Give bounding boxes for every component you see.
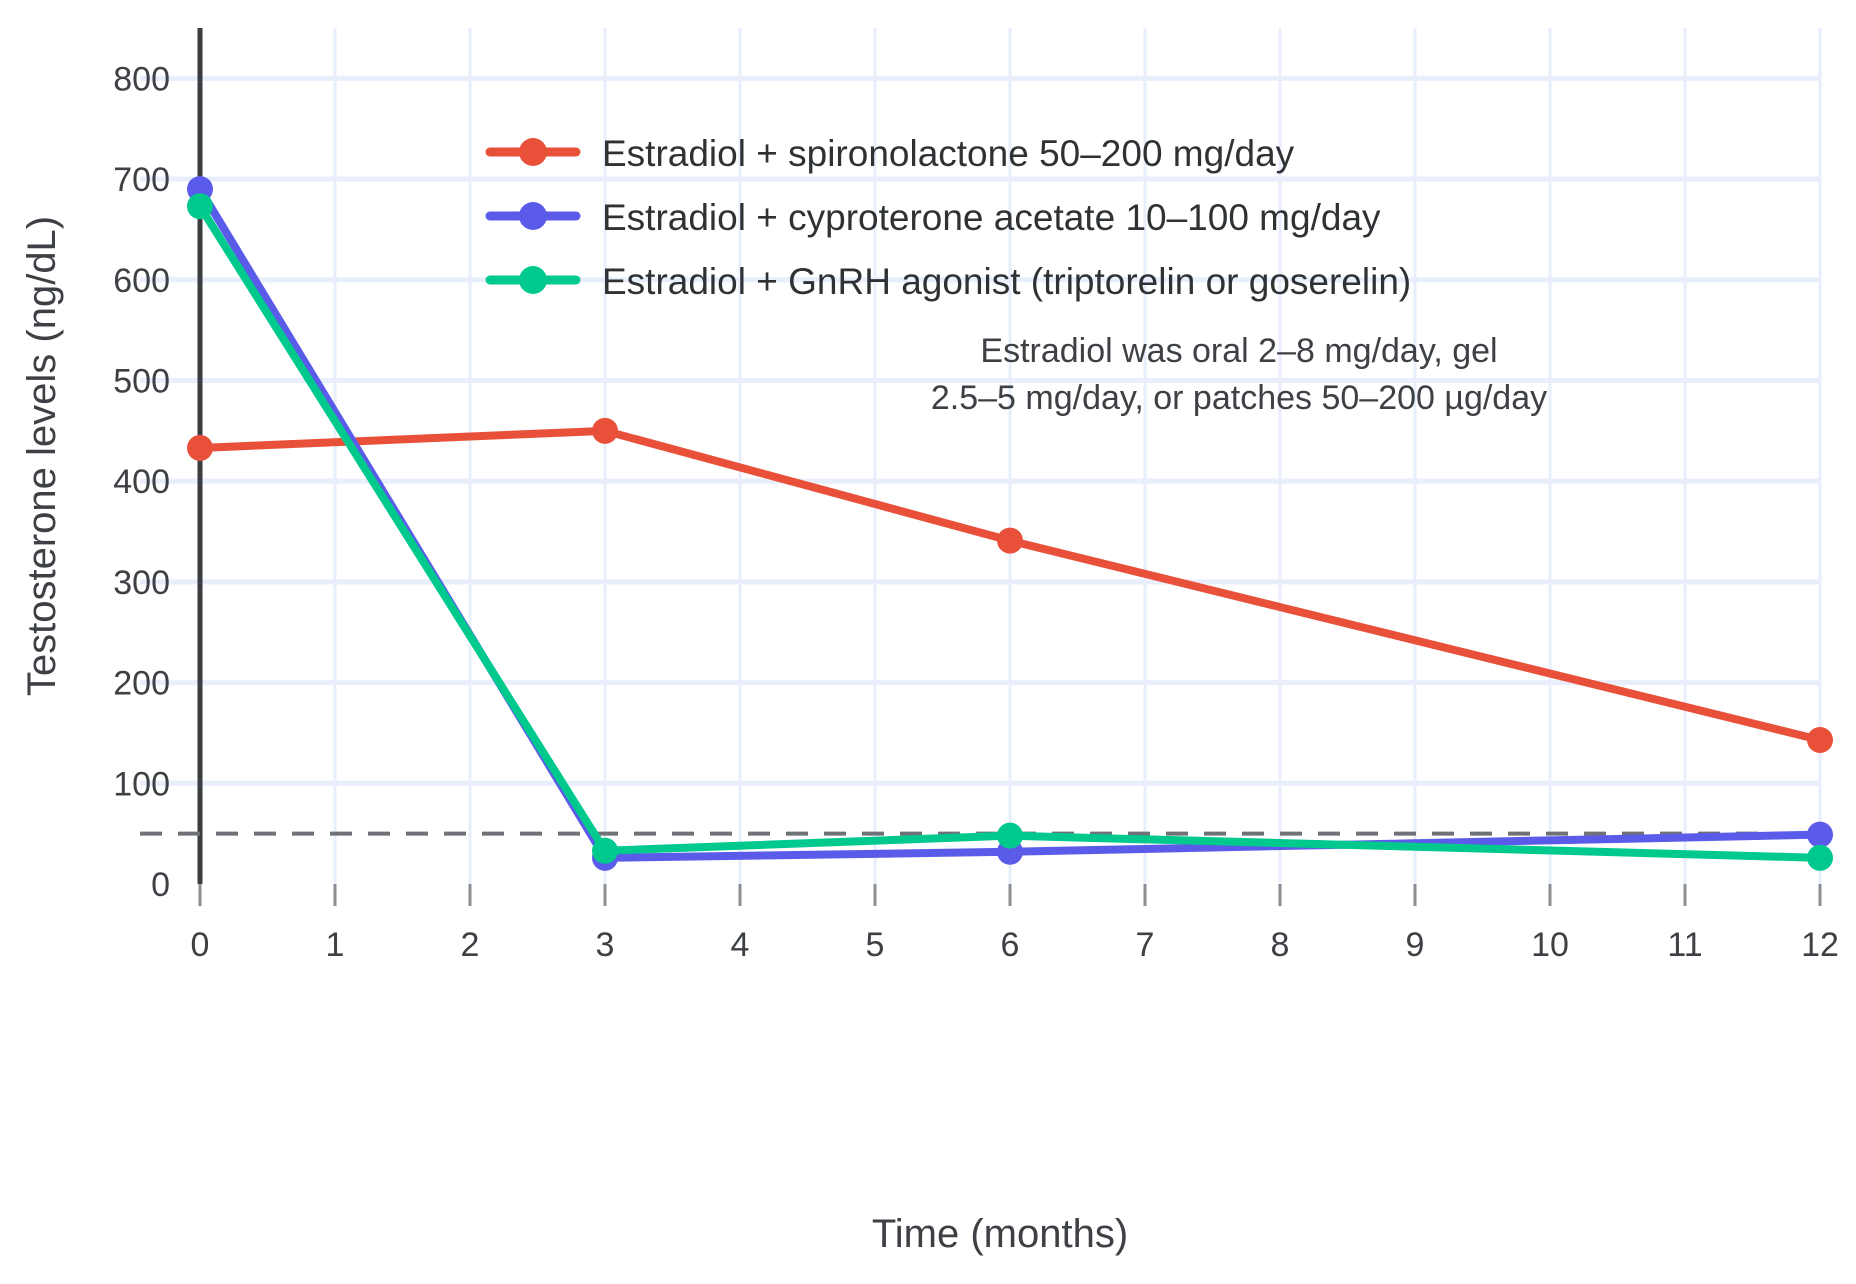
y-tick-label-800: 800 — [113, 60, 170, 98]
y-tick-label-500: 500 — [113, 362, 170, 400]
legend-item-0[interactable]: Estradiol + spironolactone 50–200 mg/day — [490, 133, 1295, 174]
x-tick-label-1: 1 — [326, 926, 345, 964]
chart-background — [0, 0, 1856, 1284]
data-point — [997, 528, 1023, 554]
data-point — [187, 435, 213, 461]
legend-item-2[interactable]: Estradiol + GnRH agonist (triptorelin or… — [490, 261, 1411, 302]
legend-label-2: Estradiol + GnRH agonist (triptorelin or… — [602, 261, 1411, 302]
testosterone-levels-line-chart: 0100200300400500600700800 01234567891011… — [0, 0, 1856, 1284]
data-point — [592, 418, 618, 444]
x-tick-label-0: 0 — [191, 926, 210, 964]
data-point — [592, 838, 618, 864]
legend-swatch-marker-1 — [519, 202, 547, 230]
y-tick-label-700: 700 — [113, 161, 170, 199]
data-point — [1807, 822, 1833, 848]
y-tick-label-400: 400 — [113, 463, 170, 501]
x-tick-label-5: 5 — [866, 926, 885, 964]
data-point — [1807, 727, 1833, 753]
x-tick-label-9: 9 — [1406, 926, 1425, 964]
x-tick-label-2: 2 — [461, 926, 480, 964]
data-point — [997, 823, 1023, 849]
annotation-line-2: 2.5–5 mg/day, or patches 50–200 µg/day — [931, 379, 1547, 417]
x-axis-title: Time (months) — [872, 1212, 1128, 1256]
chart-legend: Estradiol + spironolactone 50–200 mg/day… — [490, 133, 1411, 302]
x-tick-label-6: 6 — [1001, 926, 1020, 964]
x-tick-label-12: 12 — [1801, 926, 1839, 964]
x-tick-label-10: 10 — [1531, 926, 1569, 964]
legend-swatch-marker-2 — [519, 266, 547, 294]
x-tick-label-8: 8 — [1271, 926, 1290, 964]
y-axis-title: Testosterone levels (ng/dL) — [20, 216, 64, 696]
legend-item-1[interactable]: Estradiol + cyproterone acetate 10–100 m… — [490, 197, 1381, 238]
x-tick-label-4: 4 — [731, 926, 750, 964]
y-tick-label-100: 100 — [113, 765, 170, 803]
legend-label-0: Estradiol + spironolactone 50–200 mg/day — [602, 133, 1295, 174]
data-point — [187, 193, 213, 219]
chart-root: 0100200300400500600700800 01234567891011… — [0, 0, 1856, 1284]
y-tick-label-200: 200 — [113, 665, 170, 703]
y-tick-label-0: 0 — [151, 866, 170, 904]
annotation-line-1: Estradiol was oral 2–8 mg/day, gel — [980, 332, 1497, 370]
x-tick-label-11: 11 — [1667, 926, 1702, 964]
y-axis-tick-labels: 0100200300400500600700800 — [113, 60, 170, 904]
x-tick-label-7: 7 — [1136, 926, 1155, 964]
y-tick-label-300: 300 — [113, 564, 170, 602]
x-tick-label-3: 3 — [596, 926, 615, 964]
data-point — [1807, 845, 1833, 871]
y-tick-label-600: 600 — [113, 262, 170, 300]
legend-swatch-marker-0 — [519, 138, 547, 166]
legend-label-1: Estradiol + cyproterone acetate 10–100 m… — [602, 197, 1381, 238]
